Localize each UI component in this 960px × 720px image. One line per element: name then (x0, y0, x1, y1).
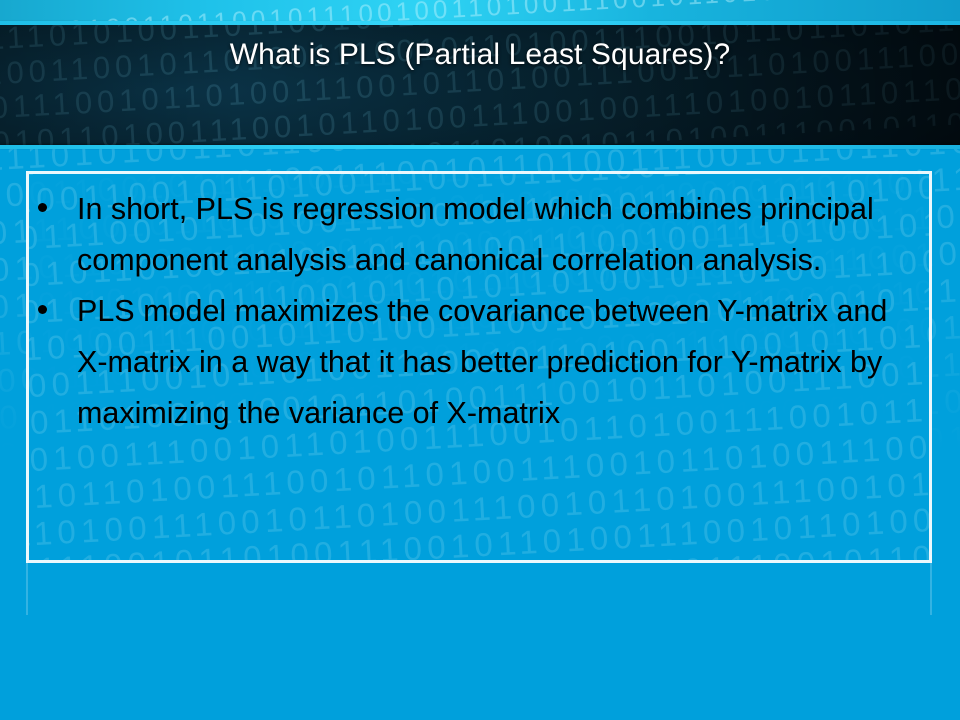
bullet-point-icon (38, 305, 47, 314)
content-body: In short, PLS is regression model which … (29, 174, 929, 560)
lower-background (0, 563, 960, 720)
bullet-point-icon (38, 203, 47, 212)
bullet-text-2: PLS model maximizes the covariance betwe… (77, 286, 921, 439)
presentation-slide: 1001110101001101100101110010011010011100… (0, 0, 960, 720)
list-item: PLS model maximizes the covariance betwe… (33, 286, 921, 439)
bullet-text-1: In short, PLS is regression model which … (77, 184, 921, 286)
content-placeholder: 1001110101001101100101110010011010011100… (26, 171, 932, 563)
top-accent-strip: 1001110101001101100101110010011010011100… (0, 0, 960, 21)
bullet-list: In short, PLS is regression model which … (33, 184, 921, 439)
slide-title: What is PLS (Partial Least Squares)? (0, 38, 960, 72)
list-item: In short, PLS is regression model which … (33, 184, 921, 286)
binary-texture-top: 1001110101001101100101110010011010011100… (0, 0, 960, 21)
